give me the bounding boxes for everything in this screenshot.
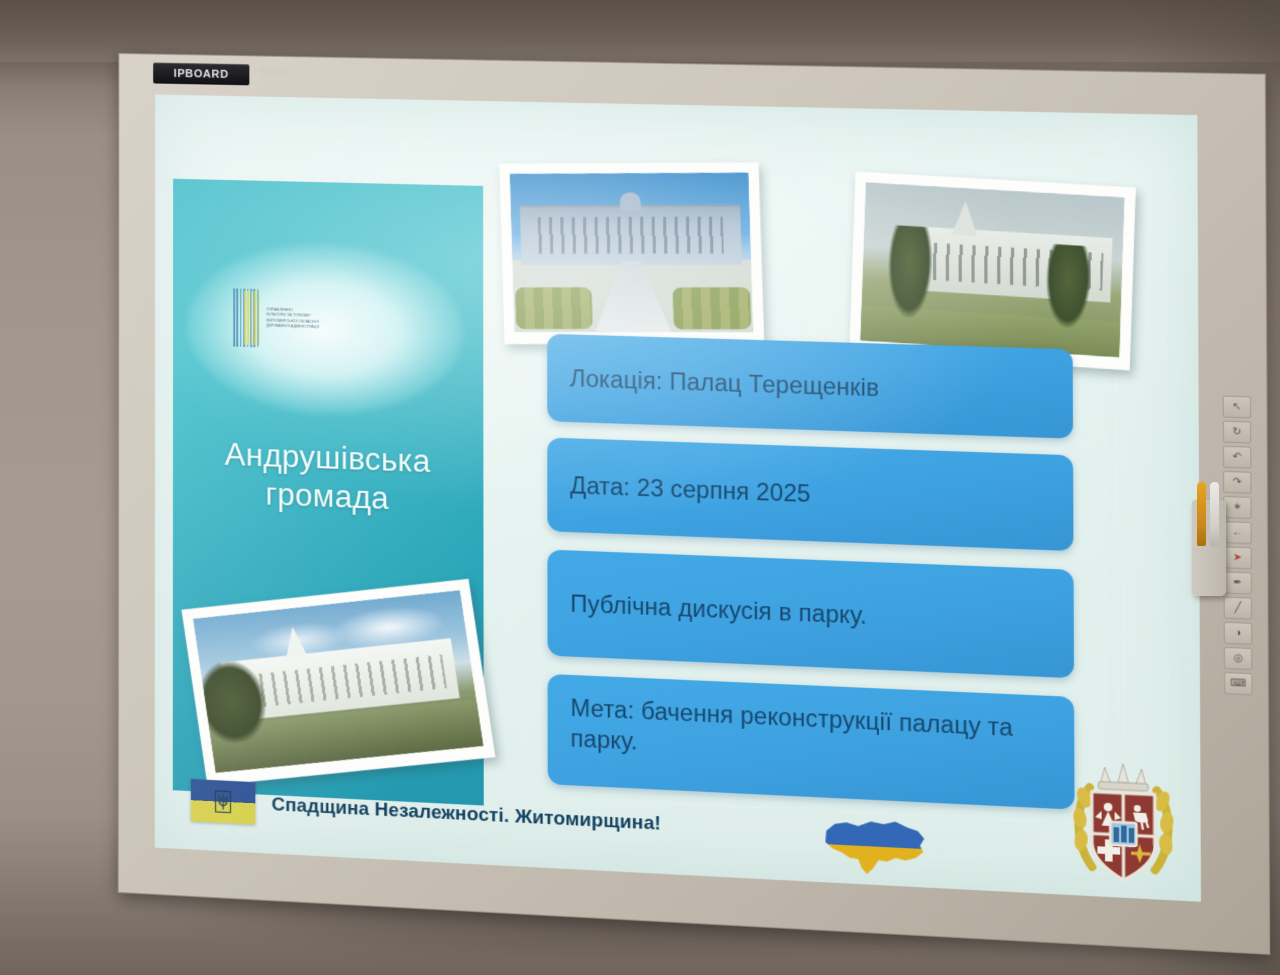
info-box-goal-text: Мета: бачення реконструкції палацу та па… [570,692,1050,777]
interactive-whiteboard[interactable]: IPBOARD 03305T УПРАВЛІННЯ І КУЛЬТ [118,53,1271,955]
eraser-tool[interactable]: ◑ [1224,622,1253,645]
whiteboard-frame: IPBOARD 03305T УПРАВЛІННЯ І КУЛЬТ [118,53,1271,955]
back-arrow-icon: ← [1232,527,1243,538]
rotate-tool[interactable]: ↻ [1223,421,1252,444]
back-arrow-tool[interactable]: ← [1223,521,1252,544]
photo-palace-front-image [510,173,754,333]
logo-line-4: ДЕРЖАВНОЇ АДМІНІСТРАЦІЇ [266,325,318,330]
highlighter-tool[interactable]: ╱ [1224,597,1253,620]
whiteboard-side-toolbar[interactable]: ↖ ↻ ↶ ↷ ✶ ← ➤ ✒ ╱ ◑ ◎ ⌨ [1223,396,1253,696]
redo-icon: ↷ [1233,477,1242,488]
select-arrow-tool[interactable]: ↖ [1223,396,1252,419]
zhytomyr-oblast-coat-of-arms [1066,751,1182,897]
photo-palace-white-image [193,590,484,773]
keyboard-tool[interactable]: ⌨ [1224,672,1253,695]
shape-icon: ◎ [1233,653,1243,664]
stylus-holder[interactable] [1192,500,1226,596]
info-box-goal: Мета: бачення реконструкції палацу та па… [548,674,1075,810]
tryzub-icon [215,790,231,813]
undo-tool[interactable]: ↶ [1223,446,1252,469]
photo-palace-front-avenue[interactable]: Палац із алеєю [499,162,764,345]
info-box-event: Публічна дискусія в парку. [547,550,1074,679]
ipboard-brand-plate: IPBOARD [153,63,249,86]
info-box-date-text: Дата: 23 серпня 2025 [570,470,811,510]
photo-palace-archival-caption: Архівне фото палацу [860,340,861,341]
classroom-wall-scene: IPBOARD 03305T УПРАВЛІННЯ І КУЛЬТ [0,0,1280,975]
pen-icon: ✒ [1233,578,1242,589]
star-icon: ✶ [1233,502,1242,513]
ukraine-map-silhouette [811,811,930,881]
zhytomyr-culture-department-logo: УПРАВЛІННЯ І КУЛЬТУРИ ТА ТУРИЗМУ ЖИТОМИР… [233,288,319,349]
photo-palace-white-caption: Білий палац [216,773,217,774]
department-logo-text: УПРАВЛІННЯ І КУЛЬТУРИ ТА ТУРИЗМУ ЖИТОМИР… [266,309,318,330]
eraser-icon: ◑ [1235,628,1242,639]
rotate-icon: ↻ [1232,427,1241,438]
red-pointer-tool[interactable]: ➤ [1223,546,1252,569]
info-box-event-text: Публічна дискусія в парку. [570,588,867,631]
footer-tagline: Спадщина Незалежності. Житомирщина! [271,793,661,835]
community-title: Андрушівська громада [173,434,484,521]
info-box-location-text: Локація: Палац Терещенків [570,363,879,404]
red-pointer-icon: ➤ [1233,552,1242,563]
ipboard-brand-label: IPBOARD [174,67,229,80]
ukraine-flag-with-tryzub-icon [191,779,255,825]
keyboard-icon: ⌨ [1230,678,1246,689]
info-box-date: Дата: 23 серпня 2025 [547,438,1073,552]
orange-stylus[interactable] [1197,482,1206,546]
select-arrow-icon: ↖ [1232,402,1241,413]
photo-palace-front-caption: Палац із алеєю [514,332,515,333]
department-emblem-icon [233,288,259,347]
redo-tool[interactable]: ↷ [1223,471,1252,494]
projected-slide[interactable]: УПРАВЛІННЯ І КУЛЬТУРИ ТА ТУРИЗМУ ЖИТОМИР… [155,94,1201,901]
shape-tool[interactable]: ◎ [1224,647,1253,670]
photo-palace-archival[interactable]: Архівне фото палацу [849,171,1136,370]
photo-palace-white[interactable]: Білий палац [181,579,495,786]
star-tool[interactable]: ✶ [1223,496,1252,519]
highlighter-icon: ╱ [1235,603,1242,614]
info-box-location: Локація: Палац Терещенків [547,334,1073,439]
device-model-code: 03305T [259,66,296,77]
pen-tool[interactable]: ✒ [1223,571,1252,594]
panel-glow-ellipse [187,241,463,418]
undo-icon: ↶ [1232,452,1241,463]
white-stylus[interactable] [1210,482,1219,546]
photo-palace-archival-image [860,182,1125,357]
wall-ceiling-band [0,0,1280,62]
